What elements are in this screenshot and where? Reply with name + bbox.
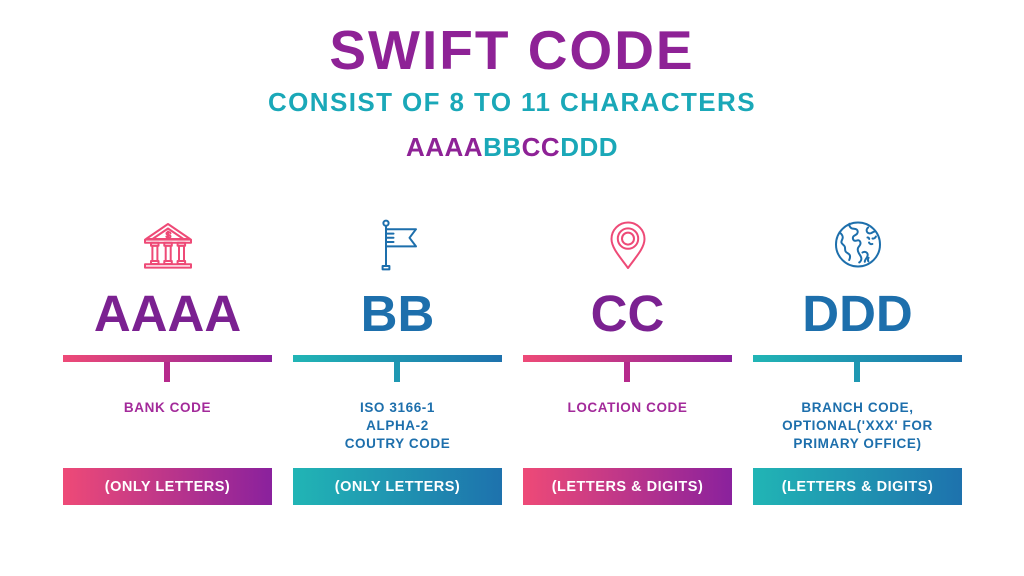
divider-bar [753, 355, 962, 362]
divider-tick [624, 362, 630, 382]
divider-bar [63, 355, 272, 362]
segment-caption-location-code: LOCATION CODE [567, 399, 687, 417]
globe-icon [832, 212, 884, 274]
page-title: SWIFT CODE [0, 22, 1024, 80]
pill-labels-row: (ONLY LETTERS) (ONLY LETTERS) (LETTERS &… [63, 468, 961, 505]
header: SWIFT CODE CONSIST OF 8 TO 11 CHARACTERS… [0, 22, 1024, 162]
segment-caption-country-code: ISO 3166-1 ALPHA-2 COUTRY CODE [345, 399, 451, 452]
pattern-segment-b: BB [483, 132, 522, 162]
segment-column-location-code: CC LOCATION CODE [523, 212, 732, 452]
segment-caption-bank-code: BANK CODE [124, 399, 211, 417]
segment-divider [63, 355, 272, 382]
segment-code-cc: CC [591, 288, 665, 339]
location-pin-icon [605, 212, 651, 274]
page-subtitle: CONSIST OF 8 TO 11 CHARACTERS [0, 88, 1024, 117]
flag-icon [373, 212, 423, 274]
pill-bank-code: (ONLY LETTERS) [63, 468, 272, 505]
pattern-segment-a: AAAA [406, 132, 483, 162]
segment-divider [523, 355, 732, 382]
segment-code-ddd: DDD [802, 288, 913, 339]
code-pattern: AAAABBCCDDD [0, 133, 1024, 162]
divider-tick [394, 362, 400, 382]
segment-caption-branch-code: BRANCH CODE, OPTIONAL('XXX' FOR PRIMARY … [782, 399, 933, 452]
pill-country-code: (ONLY LETTERS) [293, 468, 502, 505]
divider-tick [164, 362, 170, 382]
divider-bar [293, 355, 502, 362]
segment-column-branch-code: DDD BRANCH CODE, OPTIONAL('XXX' FOR PRIM… [753, 212, 962, 452]
segment-divider [293, 355, 502, 382]
bank-building-icon [140, 212, 196, 274]
divider-tick [854, 362, 860, 382]
segment-column-country-code: BB ISO 3166-1 ALPHA-2 COUTRY CODE [293, 212, 502, 452]
pill-branch-code: (LETTERS & DIGITS) [753, 468, 962, 505]
segment-code-aaaa: AAAA [94, 288, 241, 339]
segment-column-bank-code: AAAA BANK CODE [63, 212, 272, 452]
swift-code-infographic: SWIFT CODE CONSIST OF 8 TO 11 CHARACTERS… [0, 0, 1024, 576]
pattern-segment-c: CC [522, 132, 561, 162]
divider-bar [523, 355, 732, 362]
code-segments-row: AAAA BANK CODE BB [63, 212, 961, 452]
pattern-segment-d: DDD [560, 132, 618, 162]
segment-code-bb: BB [361, 288, 435, 339]
segment-divider [753, 355, 962, 382]
pill-location-code: (LETTERS & DIGITS) [523, 468, 732, 505]
